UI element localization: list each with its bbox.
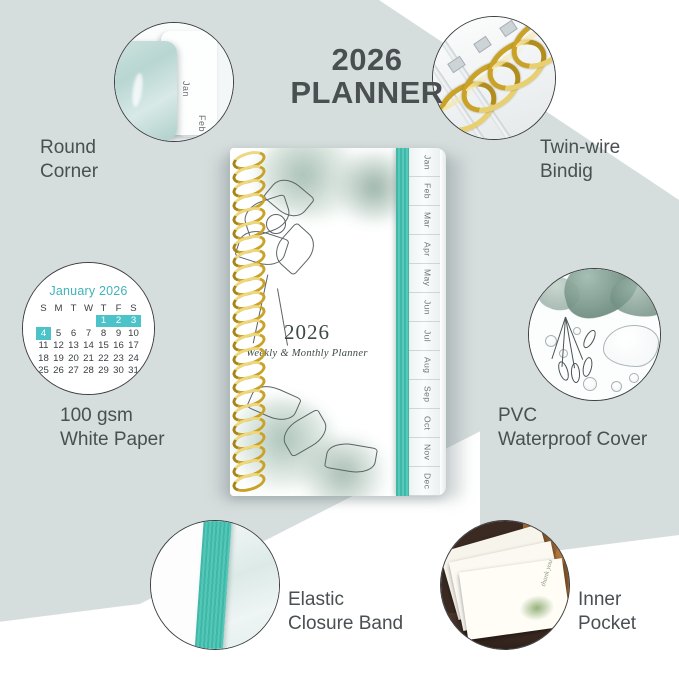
planner-month-tab-label: Dec: [423, 473, 433, 489]
calendar-body: 1234567891011121314151617181920212223242…: [36, 315, 141, 378]
calendar-weekday-6: S: [126, 302, 141, 315]
calendar-day-6[interactable]: 6: [66, 327, 81, 340]
caption-twin-wire-line2: Bindig: [540, 160, 620, 184]
planner-month-tab-label: Nov: [423, 444, 433, 460]
calendar-day-17[interactable]: 17: [126, 340, 141, 353]
planner-month-tab-label: Mar: [423, 212, 433, 228]
caption-pvc-line1: PVC: [498, 404, 647, 428]
caption-paper-weight: 100 gsm White Paper: [60, 404, 165, 452]
planner-spiral-binding: [230, 152, 264, 494]
pvc-water-droplet-5: [629, 373, 639, 383]
planner-body: 2026 Weekly & Monthly Planner JanFebMarA…: [230, 148, 446, 496]
calendar-day-23[interactable]: 23: [111, 352, 126, 365]
calendar-day-11[interactable]: 11: [36, 340, 51, 353]
calendar-day-5[interactable]: 5: [51, 327, 66, 340]
title-word: PLANNER: [282, 77, 452, 110]
feature-circle-round-corner: Jan Feb: [114, 22, 234, 142]
calendar-day-8[interactable]: 8: [96, 327, 111, 340]
calendar-week-row: 11121314151617: [36, 340, 141, 353]
pvc-water-droplet-6: [573, 327, 581, 335]
calendar-day-18[interactable]: 18: [36, 352, 51, 365]
round-corner-tab-jan: Jan: [181, 81, 191, 97]
title-year: 2026: [282, 44, 452, 77]
caption-inner-pocket: Inner Pocket: [578, 588, 636, 636]
calendar-week-row: 45678910: [36, 327, 141, 340]
calendar-day-3[interactable]: 3: [126, 315, 141, 328]
caption-twin-wire-line1: Twin-wire: [540, 136, 620, 160]
elastic-cover-marble: [223, 521, 280, 649]
caption-inner-pocket-line2: Pocket: [578, 612, 636, 636]
calendar-day-21[interactable]: 21: [81, 352, 96, 365]
caption-elastic-line2: Closure Band: [288, 612, 403, 636]
calendar-weekday-5: F: [111, 302, 126, 315]
cover-flower-center: [266, 214, 286, 234]
calendar-day-16[interactable]: 16: [111, 340, 126, 353]
planner-month-tab-label: Sep: [423, 386, 433, 402]
calendar-day-26[interactable]: 26: [51, 365, 66, 378]
caption-paper-weight-line2: White Paper: [60, 428, 165, 452]
caption-pvc-waterproof-cover: PVC Waterproof Cover: [498, 404, 647, 452]
calendar-grid: SMTWTFS 12345678910111213141516171819202…: [36, 302, 141, 377]
calendar-day-19[interactable]: 19: [51, 352, 66, 365]
feature-circle-pvc-waterproof-cover: [528, 268, 661, 401]
pvc-water-droplet-large: [603, 325, 659, 367]
calendar-day-24[interactable]: 24: [126, 352, 141, 365]
calendar-title: January 2026: [49, 284, 127, 298]
calendar-day-28[interactable]: 28: [81, 365, 96, 378]
feature-circle-inner-pocket: thank you: [440, 520, 570, 650]
planner-month-tab-label: Aug: [423, 357, 433, 373]
calendar-day-22[interactable]: 22: [96, 352, 111, 365]
pvc-water-droplet-3: [583, 377, 597, 391]
calendar-day-13[interactable]: 13: [66, 340, 81, 353]
caption-round-corner: Round Corner: [40, 136, 98, 184]
round-corner-cover-swatch: [114, 41, 177, 141]
page-title: 2026 PLANNER: [282, 44, 452, 110]
calendar-weekday-2: T: [66, 302, 81, 315]
calendar-weekday-4: T: [96, 302, 111, 315]
round-corner-tab-feb: Feb: [197, 115, 207, 132]
planner-month-tab-label: Feb: [423, 183, 433, 199]
planner-month-tab-label: Jul: [423, 330, 433, 342]
calendar-day-empty: [51, 315, 66, 328]
caption-round-corner-line1: Round: [40, 136, 98, 160]
planner-month-tab-label: Jun: [423, 300, 433, 315]
calendar-header-row: SMTWTFS: [36, 302, 141, 315]
caption-round-corner-line2: Corner: [40, 160, 98, 184]
calendar-day-7[interactable]: 7: [81, 327, 96, 340]
calendar-day-30[interactable]: 30: [111, 365, 126, 378]
calendar-day-2[interactable]: 2: [111, 315, 126, 328]
calendar-day-31[interactable]: 31: [126, 365, 141, 378]
calendar-day-4[interactable]: 4: [36, 327, 51, 340]
feature-circle-paper-weight: January 2026 SMTWTFS 1234567891011121314…: [22, 262, 155, 395]
planner-month-tab-label: May: [423, 269, 433, 286]
planner-month-tab-label: Oct: [423, 416, 433, 430]
calendar-day-10[interactable]: 10: [126, 327, 141, 340]
calendar-day-20[interactable]: 20: [66, 352, 81, 365]
feature-circle-elastic-closure-band: [150, 520, 280, 650]
calendar-day-9[interactable]: 9: [111, 327, 126, 340]
planner-month-tab-label: Jan: [423, 155, 433, 170]
calendar-week-row: 25262728293031: [36, 365, 141, 378]
caption-paper-weight-line1: 100 gsm: [60, 404, 165, 428]
planner-page-edge: [440, 150, 446, 494]
calendar-day-empty: [66, 315, 81, 328]
calendar-day-empty: [81, 315, 96, 328]
calendar-day-empty: [36, 315, 51, 328]
caption-elastic-line1: Elastic: [288, 588, 403, 612]
calendar-weekday-1: M: [51, 302, 66, 315]
planner-product-image: 2026 Weekly & Monthly Planner JanFebMarA…: [212, 148, 460, 498]
pvc-water-droplet-4: [611, 381, 622, 392]
calendar-day-29[interactable]: 29: [96, 365, 111, 378]
calendar-day-27[interactable]: 27: [66, 365, 81, 378]
product-infographic: 2026 PLANNER Jan Feb Round Corner Twin-w…: [0, 0, 679, 675]
calendar-day-1[interactable]: 1: [96, 315, 111, 328]
calendar-day-25[interactable]: 25: [36, 365, 51, 378]
calendar-weekday-0: S: [36, 302, 51, 315]
calendar-week-row: 123: [36, 315, 141, 328]
calendar-day-15[interactable]: 15: [96, 340, 111, 353]
calendar-day-14[interactable]: 14: [81, 340, 96, 353]
caption-twin-wire-binding: Twin-wire Bindig: [540, 136, 620, 184]
planner-elastic-band: [396, 148, 409, 496]
calendar-day-12[interactable]: 12: [51, 340, 66, 353]
caption-inner-pocket-line1: Inner: [578, 588, 636, 612]
caption-pvc-line2: Waterproof Cover: [498, 428, 647, 452]
planner-month-tab-label: Apr: [423, 242, 433, 256]
caption-elastic-closure-band: Elastic Closure Band: [288, 588, 403, 636]
calendar-widget: January 2026 SMTWTFS 1234567891011121314…: [23, 263, 154, 394]
calendar-week-row: 18192021222324: [36, 352, 141, 365]
calendar-weekday-3: W: [81, 302, 96, 315]
